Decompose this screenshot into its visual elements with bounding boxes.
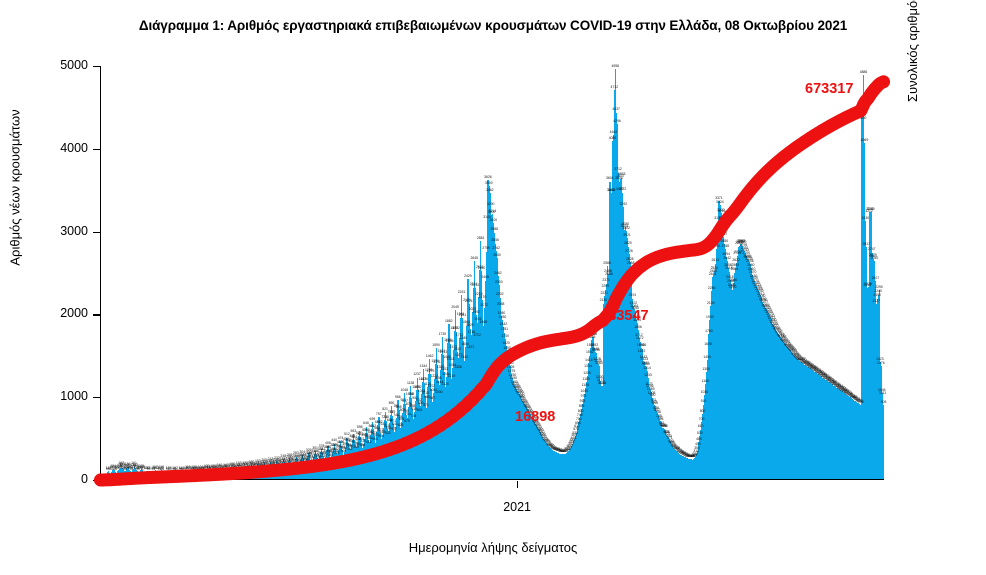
bar-value-label: 99 — [147, 467, 151, 471]
left-y-tick-mark — [93, 314, 100, 315]
bar-value-label: 1590 — [432, 343, 440, 347]
left-y-tick-mark — [93, 480, 100, 481]
bar-value-label: 2329 — [864, 282, 872, 286]
bar-value-label: 2817 — [862, 242, 870, 246]
bar-value-label: 2429 — [464, 274, 472, 278]
bar-value-label: 2202 — [496, 292, 504, 296]
bar-value-label: 3216 — [718, 209, 726, 213]
bar-value-label: 788 — [655, 410, 661, 414]
bar-value-label: 4437 — [612, 107, 620, 111]
bar-value-label: 3604 — [606, 176, 614, 180]
bar-value-label: 4506 — [858, 102, 866, 106]
left-y-tick-label: 4000 — [36, 141, 88, 155]
left-y-tick-label: 3000 — [36, 224, 88, 238]
bar-value-label: 800 — [578, 409, 584, 413]
left-y-tick-label: 0 — [36, 472, 88, 486]
right-y-axis-title: Συνολικός αριθμός κρουσμάτων — [905, 0, 920, 160]
bar-value-label: 4069 — [861, 138, 869, 142]
bar-value-label: 1792 — [452, 326, 460, 330]
bar-value-label: 748 — [577, 413, 583, 417]
bar-value-label: 1550 — [503, 346, 511, 350]
bar-value-label: 1314 — [643, 366, 651, 370]
bar-value-label: 2622 — [732, 258, 740, 262]
bar-value-label: 3324 — [716, 200, 724, 204]
bar-value-label: 2231 — [458, 290, 466, 294]
bar-value-label: 400 — [695, 442, 701, 446]
bar-value-label: 2400 — [628, 276, 636, 280]
bar-value-label: 626 — [398, 423, 404, 427]
page-title: Διάγραμμα 1: Αριθμός εργαστηριακά επιβεβ… — [0, 18, 986, 33]
bar-value-label: 1030 — [435, 390, 443, 394]
bar-value-label: 2130 — [600, 298, 608, 302]
bar-value-label: 3472 — [619, 187, 627, 191]
bar-value-label: 704 — [658, 417, 664, 421]
bar-value-label: 388 — [360, 443, 366, 447]
bar-value-label: 3292 — [620, 202, 628, 206]
bar-value-label: 453 — [372, 437, 378, 441]
left-y-tick-mark — [93, 66, 100, 67]
bar-value-label: 1418 — [447, 357, 455, 361]
bar-value-label: 1700 — [501, 334, 509, 338]
bar-value-label: 419 — [366, 440, 372, 444]
bar-value-label: 2088 — [497, 302, 505, 306]
bar-value-label: 910 — [701, 399, 707, 403]
right-y-axis: 0e+001e+052e+053e+054e+055e+056e+057e+05 — [884, 0, 986, 575]
bar-value-label: 3290 — [487, 202, 495, 206]
bar-value-label: 3626 — [484, 175, 492, 179]
bar-value-label: 2645 — [470, 256, 478, 260]
bar-value-label: 2380 — [730, 278, 738, 282]
bar-value-label: 738 — [410, 414, 416, 418]
bar-value-label: 2881 — [477, 236, 485, 240]
bar-value-label: 4089 — [609, 136, 617, 140]
bar-value-label: 2290 — [875, 285, 883, 289]
bar-value-label: 1672 — [636, 336, 644, 340]
bar-value-label: 1255 — [583, 371, 591, 375]
bar-value-label: 2221 — [601, 291, 609, 295]
bar-value-label: 2170 — [479, 295, 487, 299]
bar-value-label: 4162 — [610, 130, 618, 134]
bar-value-label: 2191 — [629, 293, 637, 297]
bar-value-label: 1882 — [445, 319, 453, 323]
bar-value-label: 700 — [699, 417, 705, 421]
bar-value-label: 1760 — [705, 329, 713, 333]
left-y-axis-title: Αριθμός νέων κρουσμάτων — [8, 23, 23, 353]
bar-value-label: 2642 — [723, 256, 731, 260]
bar-value-label: 93 — [168, 467, 172, 471]
bar-value-label: 1279 — [427, 369, 435, 373]
bar-value-label: 1600 — [704, 342, 712, 346]
bar-value-label: 2124 — [465, 299, 473, 303]
bar-value-label: 1992 — [472, 310, 480, 314]
bar-value-label: 1620 — [502, 341, 510, 345]
bar-value-label: 2680 — [493, 253, 501, 257]
bar-value-label: 905 — [858, 400, 864, 404]
bar-value-label: 2407 — [872, 276, 880, 280]
bar-value-label: 1729 — [590, 332, 598, 336]
bar-value-label: 2072 — [480, 303, 488, 307]
bar-value-label: 491 — [379, 434, 385, 438]
bar-value-label: 2049 — [451, 305, 459, 309]
bar-value-label: 2790 — [712, 244, 720, 248]
bar-value-label: 2988 — [490, 227, 498, 231]
bar-value-label: 2290 — [729, 285, 737, 289]
left-y-tick-mark — [93, 397, 100, 398]
bar-value-label: 3653 — [618, 172, 626, 176]
left-y-tick-label: 2000 — [36, 306, 88, 320]
bar-value-label: 2762 — [492, 246, 500, 250]
bar-value-label: 895 — [652, 401, 658, 405]
bar-value-label: 1450 — [703, 355, 711, 359]
bar-value-label: 3130 — [862, 216, 870, 220]
bar-value-label: 975 — [581, 394, 587, 398]
x-tick-label: 2021 — [503, 500, 531, 514]
bar-value-label: 1930 — [499, 315, 507, 319]
bar-value-label: 1030 — [701, 390, 709, 394]
cumulative-value-annotation: 16898 — [515, 409, 555, 425]
bar-value-label: 1522 — [638, 349, 646, 353]
bar-value-label: 913 — [580, 399, 586, 403]
bar-value-label: 94 — [174, 467, 178, 471]
bar-value-label: 2280 — [708, 286, 716, 290]
bar-value-label: 2937 — [720, 232, 728, 236]
bar-value-label: 1391 — [433, 360, 441, 364]
bar-value-label: 1571 — [467, 345, 475, 349]
bar-value-label: 577 — [391, 427, 397, 431]
bar-value-label: 2350 — [495, 280, 503, 284]
bar-value-label: 1040 — [581, 389, 589, 393]
bar-value-label: 532 — [385, 431, 391, 435]
left-y-tick-label: 1000 — [36, 389, 88, 403]
x-axis-title: Ημερομηνία λήψης δείγματος — [0, 540, 986, 555]
bar-value-label: 2504 — [731, 267, 739, 271]
bar-value-label: 1543 — [453, 347, 461, 351]
bar-value-label: 1334 — [584, 364, 592, 368]
bar-value-label: 2613 — [712, 258, 720, 262]
left-y-tick-label: 5000 — [36, 58, 88, 72]
bar-value-label: 610 — [698, 424, 704, 428]
bar-value-label: 1380 — [506, 361, 514, 365]
bar-series: 9511092121134118961041191361481621511271… — [100, 66, 884, 480]
bar-value-label: 4330 — [859, 116, 867, 120]
bar-value-label: 1586 — [639, 343, 647, 347]
bar-value-label: 2299 — [601, 284, 609, 288]
chart-figure: Διάγραμμα 1: Αριθμός εργαστηριακά επιβεβ… — [0, 0, 986, 575]
bar-value-label: 1380 — [595, 361, 603, 365]
bar-value-label: 3240 — [867, 207, 875, 211]
bar-value-label: 1930 — [706, 315, 714, 319]
bar-value-label: 2371 — [602, 278, 610, 282]
bar-value-label: 1300 — [702, 367, 710, 371]
bar-value-label: 3462 — [486, 188, 494, 192]
bar-value-label: 1781 — [500, 327, 508, 331]
bar-value-label: 3130 — [719, 216, 727, 220]
bar-value-label: 2921 — [623, 233, 631, 237]
bar-value-label: 3712 — [614, 167, 622, 171]
bar-value-label: 1806 — [634, 325, 642, 329]
bar-value-label: 1160 — [702, 379, 709, 383]
cumulative-value-annotation: 673317 — [805, 81, 853, 97]
bar-value-label: 990 — [650, 393, 656, 397]
bar-value-label: 2640 — [871, 256, 879, 260]
bar-value-label: 947 — [430, 396, 436, 400]
bar-value-label: 1237 — [413, 372, 421, 376]
bar-value-label: 1680 — [460, 336, 468, 340]
bar-value-label: 2408 — [481, 275, 489, 279]
bar-value-label: 1513 — [440, 350, 448, 354]
x-tick-mark — [517, 481, 518, 488]
bar-value-label: 612 — [574, 424, 580, 428]
bar-value-label: 1842 — [500, 322, 508, 326]
bar-value-label: 700 — [576, 417, 582, 421]
bar-value-label: 1416 — [585, 358, 593, 362]
bar-value-label: 3466 — [608, 188, 616, 192]
bar-value-label: 1951 — [459, 313, 467, 317]
bar-value-label: 2850 — [721, 239, 729, 243]
bar-value-label: 3100 — [490, 218, 498, 222]
cumulative-value-annotation: 33547 — [608, 308, 648, 324]
bar-value-label: 2520 — [711, 266, 719, 270]
bar-value-label: 1303 — [440, 367, 448, 371]
bar-value-label: 1443 — [460, 355, 468, 359]
bar-value-label: 3002 — [622, 226, 630, 230]
bar-value-label: 2728 — [625, 249, 633, 253]
left-y-tick-mark — [93, 149, 100, 150]
bar-value-label: 350 — [694, 446, 700, 450]
bar-value-label: 1865 — [480, 320, 488, 324]
bar-value-label: 2100 — [707, 301, 715, 305]
bar-value-label: 4296 — [613, 119, 621, 123]
bar-value-label: 1136 — [599, 381, 606, 385]
plot-area: 9511092121134118961041191361481621511271… — [100, 66, 884, 480]
bar-value-label: 2759 — [482, 246, 490, 250]
bar-value-label: 98 — [160, 467, 164, 471]
bar-value-label: 2588 — [627, 261, 635, 265]
bar-value-label: 855 — [579, 404, 585, 408]
bar-value-label: 1535 — [592, 348, 600, 352]
bar-value-label: 4712 — [611, 85, 619, 89]
bar-value-label: 610 — [662, 424, 668, 428]
bar-value-label: 4886 — [860, 70, 868, 74]
bar-value-label: 2520 — [478, 266, 486, 270]
bar-value-label: 2588 — [603, 261, 611, 265]
left-y-tick-mark — [93, 232, 100, 233]
bar-value-label: 2820 — [624, 241, 632, 245]
bar-value-label: 1219 — [448, 374, 456, 378]
bar-value-label: 1233 — [644, 373, 652, 377]
bar-value-label: 2856 — [491, 238, 499, 242]
bar-value-label: 1198 — [434, 376, 441, 380]
bar-value-label: 3214 — [489, 209, 497, 213]
bar-value-label: 1108 — [582, 383, 589, 387]
bar-value-label: 1829 — [466, 323, 474, 327]
bar-value-label: 871 — [423, 403, 429, 407]
bar-value-label: 460 — [696, 437, 702, 441]
bar-value-label: 2446 — [605, 272, 613, 276]
bar-value-label: 801 — [417, 408, 423, 412]
bar-value-label: 2240 — [874, 289, 882, 293]
bar-value-label: 800 — [700, 409, 706, 413]
bar-value-label: 1180 — [582, 377, 589, 381]
bar-value-label: 3550 — [485, 181, 493, 185]
bar-value-label: 2127 — [872, 299, 880, 303]
bar-value-label: 530 — [697, 431, 703, 435]
bar-value-label: 1480 — [504, 352, 512, 356]
bar-value-label: 1712 — [473, 333, 481, 337]
bar-value-label: 655 — [575, 421, 581, 425]
bar-value-label: 2462 — [494, 271, 502, 275]
bar-value-label: 1462 — [426, 354, 434, 358]
bar-value-label: 4958 — [611, 64, 619, 68]
bar-value-label: 1646 — [446, 339, 454, 343]
bar-value-label: 1326 — [454, 365, 462, 369]
bar-value-label: 1120 — [442, 382, 449, 386]
bar-value-label: 2747 — [868, 247, 876, 251]
bar-value-label: 2560 — [732, 263, 740, 267]
bar-value-label: 2788 — [722, 244, 730, 248]
bar-value-label: 2313 — [471, 283, 479, 287]
bar-value-label: 1344 — [420, 364, 428, 368]
bar-value-label: 1730 — [439, 332, 447, 336]
bar-value-label: 679 — [404, 419, 410, 423]
bar-value-label: 2190 — [873, 293, 881, 297]
